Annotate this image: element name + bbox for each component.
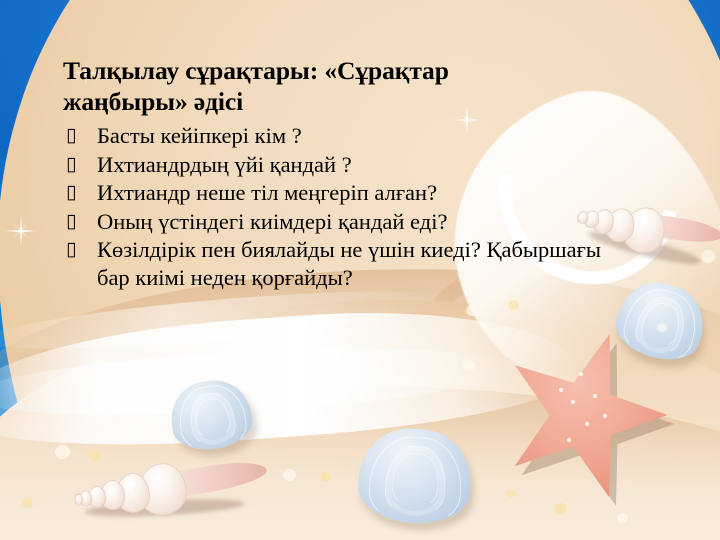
list-item-text: Ихтиандрдың үйі қандай ?: [97, 152, 352, 177]
page-title-line-2: жаңбыры» әдісі: [63, 87, 243, 116]
sand-pebble: [508, 300, 519, 310]
list-item: ▯ Ихтиандрдың үйі қандай ?: [63, 151, 639, 179]
presentation-slide: Талқылау сұрақтары: «Сұрақтар жаңбыры» ә…: [0, 0, 720, 540]
sand-pebble: [22, 498, 33, 508]
slide-text-content: Талқылау сұрақтары: «Сұрақтар жаңбыры» ә…: [63, 56, 639, 293]
sparkle-star-left: [4, 214, 38, 248]
list-item-text: Ихтиандр неше тіл меңгеріп алған?: [97, 180, 437, 205]
sand-pebble: [55, 445, 70, 459]
list-item-text: Басты кейіпкері кім ?: [97, 123, 302, 148]
sand-pebble: [320, 472, 331, 482]
sand-pebble: [657, 323, 667, 332]
sand-pebble: [506, 489, 516, 498]
list-item-text: Көзілдірік пен биялайды не үшін киеді? Қ…: [97, 237, 601, 290]
bullet-square-icon: ▯: [66, 152, 76, 177]
sand-pebble: [463, 360, 475, 371]
question-list: ▯ Басты кейіпкері кім ? ▯ Ихтиандрдың үй…: [63, 122, 639, 291]
sand-pebble: [466, 305, 478, 316]
page-title: Талқылау сұрақтары: «Сұрақтар жаңбыры» ә…: [63, 56, 639, 117]
bullet-square-icon: ▯: [66, 180, 76, 205]
list-item: ▯ Ихтиандр неше тіл меңгеріп алған?: [63, 179, 639, 207]
conch-shell-left: [72, 455, 265, 531]
list-item: ▯ Көзілдірік пен биялайды не үшін киеді?…: [63, 236, 639, 291]
starfish: [505, 330, 665, 490]
bullet-square-icon: ▯: [66, 123, 76, 148]
list-item-text: Оның үстіндегі киімдері қандай еді?: [97, 209, 447, 234]
page-title-line-1: Талқылау сұрақтары: «Сұрақтар: [63, 56, 449, 85]
list-item: ▯ Басты кейіпкері кім ?: [63, 122, 639, 150]
bullet-square-icon: ▯: [66, 237, 76, 262]
sand-pebble: [701, 250, 715, 263]
list-item: ▯ Оның үстіндегі киімдері қандай еді?: [63, 208, 639, 236]
sand-pebble: [88, 450, 100, 461]
bullet-square-icon: ▯: [66, 209, 76, 234]
sand-pebble: [283, 469, 296, 481]
sand-pebble: [617, 513, 628, 523]
sand-pebble: [554, 503, 567, 515]
